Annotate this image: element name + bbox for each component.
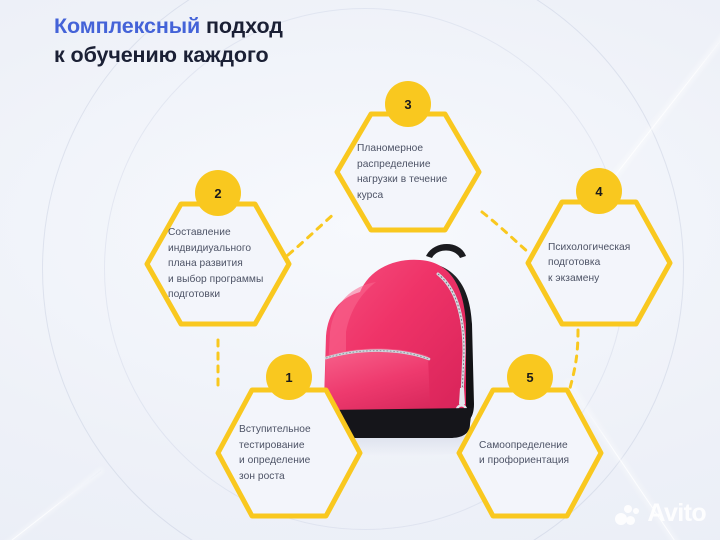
- step-text-1: Вступительное тестирование и определение…: [215, 386, 363, 520]
- slide-canvas: Комплексный подход к обучению каждого: [0, 0, 720, 540]
- step-node-5[interactable]: Самоопределение и профориентация 5: [455, 386, 605, 520]
- step-node-3[interactable]: Планомерное распределение нагрузки в теч…: [333, 110, 483, 234]
- step-node-4[interactable]: Психологическая подготовка к экзамену 4: [524, 198, 674, 328]
- step-text-5: Самоопределение и профориентация: [455, 386, 605, 520]
- title-accent-word: Комплексный: [54, 14, 200, 38]
- avito-watermark: Avito: [615, 501, 706, 526]
- step-node-1[interactable]: Вступительное тестирование и определение…: [215, 386, 363, 520]
- step-badge-5[interactable]: 5: [507, 354, 553, 400]
- backpack-handle: [426, 244, 466, 258]
- step-badge-4[interactable]: 4: [576, 168, 622, 214]
- step-text-2: Составление индвидиуального плана развит…: [144, 200, 292, 328]
- step-badge-2[interactable]: 2: [195, 170, 241, 216]
- step-badge-1[interactable]: 1: [266, 354, 312, 400]
- avito-wordmark: Avito: [647, 501, 706, 526]
- avito-logo-icon: [615, 502, 641, 526]
- step-badge-3[interactable]: 3: [385, 81, 431, 127]
- step-text-4: Психологическая подготовка к экзамену: [524, 198, 674, 328]
- connector-4-to-5: [570, 330, 578, 388]
- page-title: Комплексный подход к обучению каждого: [54, 12, 474, 69]
- title-line-2: к обучению каждого: [54, 43, 269, 67]
- step-node-2[interactable]: Составление индвидиуального плана развит…: [144, 200, 292, 328]
- step-text-3: Планомерное распределение нагрузки в теч…: [333, 110, 483, 234]
- title-rest: подход: [200, 14, 283, 38]
- background-streak: [0, 470, 102, 540]
